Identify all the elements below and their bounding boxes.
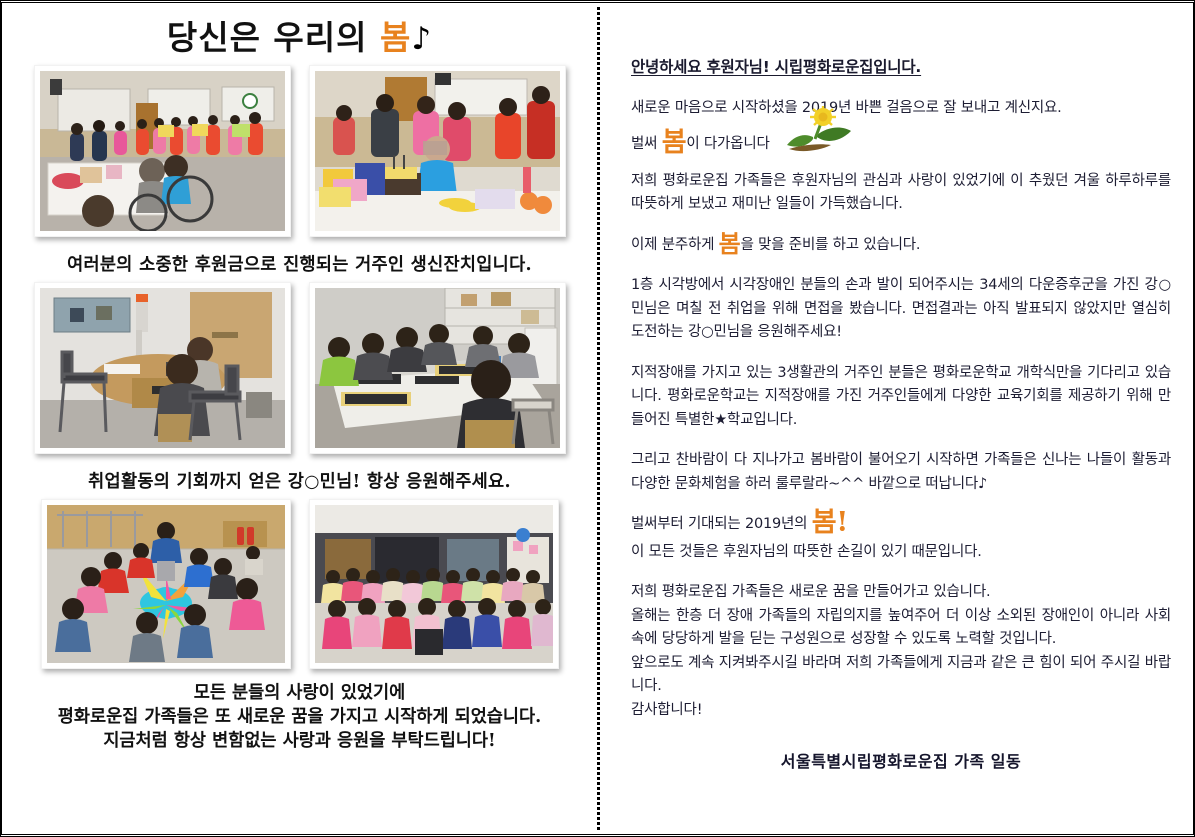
photo-hanbok-group <box>315 505 553 663</box>
letter-paragraph-9b: 올해는 한층 더 장애 가족들의 자립의지를 높여주어 더 이상 소외된 장애인… <box>631 605 1171 652</box>
letter-p2-before: 벌써 <box>631 136 662 152</box>
right-column: 안녕하세요 후원자님! 시립평화로운집입니다. 새로운 마음으로 시작하셨을 2… <box>597 3 1195 834</box>
letter-p4-accent: 봄 <box>719 229 741 258</box>
letter-p8-before: 벌써부터 기대되는 2019년의 <box>631 516 812 532</box>
dandelion-icon <box>779 105 857 157</box>
photo-row-activity <box>2 499 597 669</box>
left-column: 당신은 우리의 봄♪ <box>2 3 597 834</box>
letter-paragraph-7: 그리고 찬바람이 다 지나가고 봄바람이 불어오기 시작하면 가족들은 신나는 … <box>631 449 1171 496</box>
newsletter-page: 당신은 우리의 봄♪ <box>0 0 1195 837</box>
letter-paragraph-1: 새로운 마음으로 시작하셨을 2019년 바쁜 걸음으로 잘 보내고 계신지요. <box>631 97 1171 120</box>
caption-closing: 모든 분들의 사랑이 있었기에 평화로운집 가족들은 또 새로운 꿈을 가지고 … <box>2 681 597 753</box>
letter-p4-before: 이제 분주하게 <box>631 237 719 253</box>
photo-row-birthday <box>2 65 597 237</box>
photo-frame <box>34 65 291 237</box>
photo-row-work <box>2 282 597 454</box>
letter-paragraph-9d: 감사합니다! <box>631 699 1171 722</box>
photo-birthday-cake <box>315 71 560 231</box>
caption-closing-line3: 지금처럼 항상 변함없는 사랑과 응원을 부탁드립니다! <box>2 729 597 753</box>
letter-heading: 안녕하세요 후원자님! 시립평화로운집입니다. <box>631 55 1171 77</box>
photo-frame <box>34 282 291 454</box>
page-title: 당신은 우리의 봄♪ <box>2 11 597 59</box>
letter-paragraph-5: 1층 시각방에서 시각장애인 분들의 손과 발이 되어주시는 34세의 다운증후… <box>631 274 1171 344</box>
letter-paragraph-6: 지적장애를 가지고 있는 3생활관의 거주인 분들은 평화로운학교 개학식만을 … <box>631 362 1171 432</box>
photo-vocational-work <box>315 288 560 448</box>
letter-paragraph-8: 벌써부터 기대되는 2019년의 봄! <box>631 513 1171 536</box>
music-note-icon: ♪ <box>411 21 432 57</box>
caption-closing-line1: 모든 분들의 사랑이 있었기에 <box>2 681 597 705</box>
page-title-accent: 봄 <box>380 18 411 57</box>
photo-group-activity <box>47 505 285 663</box>
caption-employment: 취업활동의 기회까지 얻은 강○민님! 항상 응원해주세요. <box>2 468 597 493</box>
letter-p2-accent: 봄 <box>662 127 687 158</box>
letter-paragraph-8b: 이 모든 것들은 후원자님의 따뜻한 손길이 있기 때문입니다. <box>631 541 1171 564</box>
letter-paragraph-3: 저희 평화로운집 가족들은 후원자님의 관심과 사랑이 있었기에 이 추웠던 겨… <box>631 170 1171 217</box>
photo-frame <box>309 282 566 454</box>
photo-frame <box>309 499 559 669</box>
letter-paragraph-4: 이제 분주하게 봄을 맞을 준비를 하고 있습니다. <box>631 234 1171 257</box>
letter-paragraph-2: 벌써 봄이 다가옵니다 <box>631 133 1171 156</box>
letter-p4-after: 을 맞을 준비를 하고 있습니다. <box>741 237 921 253</box>
caption-birthday: 여러분의 소중한 후원금으로 진행되는 거주인 생신잔치입니다. <box>2 251 597 276</box>
letter-p2-after: 이 다가옵니다 <box>686 136 769 152</box>
photo-frame <box>41 499 291 669</box>
photo-birthday-singing <box>40 71 285 231</box>
letter-paragraph-9a: 저희 평화로운집 가족들은 새로운 꿈을 만들어가고 있습니다. <box>631 581 1171 604</box>
caption-closing-line2: 평화로운집 가족들은 또 새로운 꿈을 가지고 시작하게 되었습니다. <box>2 705 597 729</box>
photo-frame <box>309 65 566 237</box>
page-title-prefix: 당신은 우리의 <box>167 18 380 57</box>
letter-p8-accent: 봄! <box>812 507 848 538</box>
letter-paragraph-9c: 앞으로도 계속 지켜봐주시길 바라며 저희 가족들에게 지금과 같은 큰 힘이 … <box>631 652 1171 699</box>
letter-signature: 서울특별시립평화로운집 가족 일동 <box>631 748 1171 772</box>
photo-job-interview <box>40 288 285 448</box>
